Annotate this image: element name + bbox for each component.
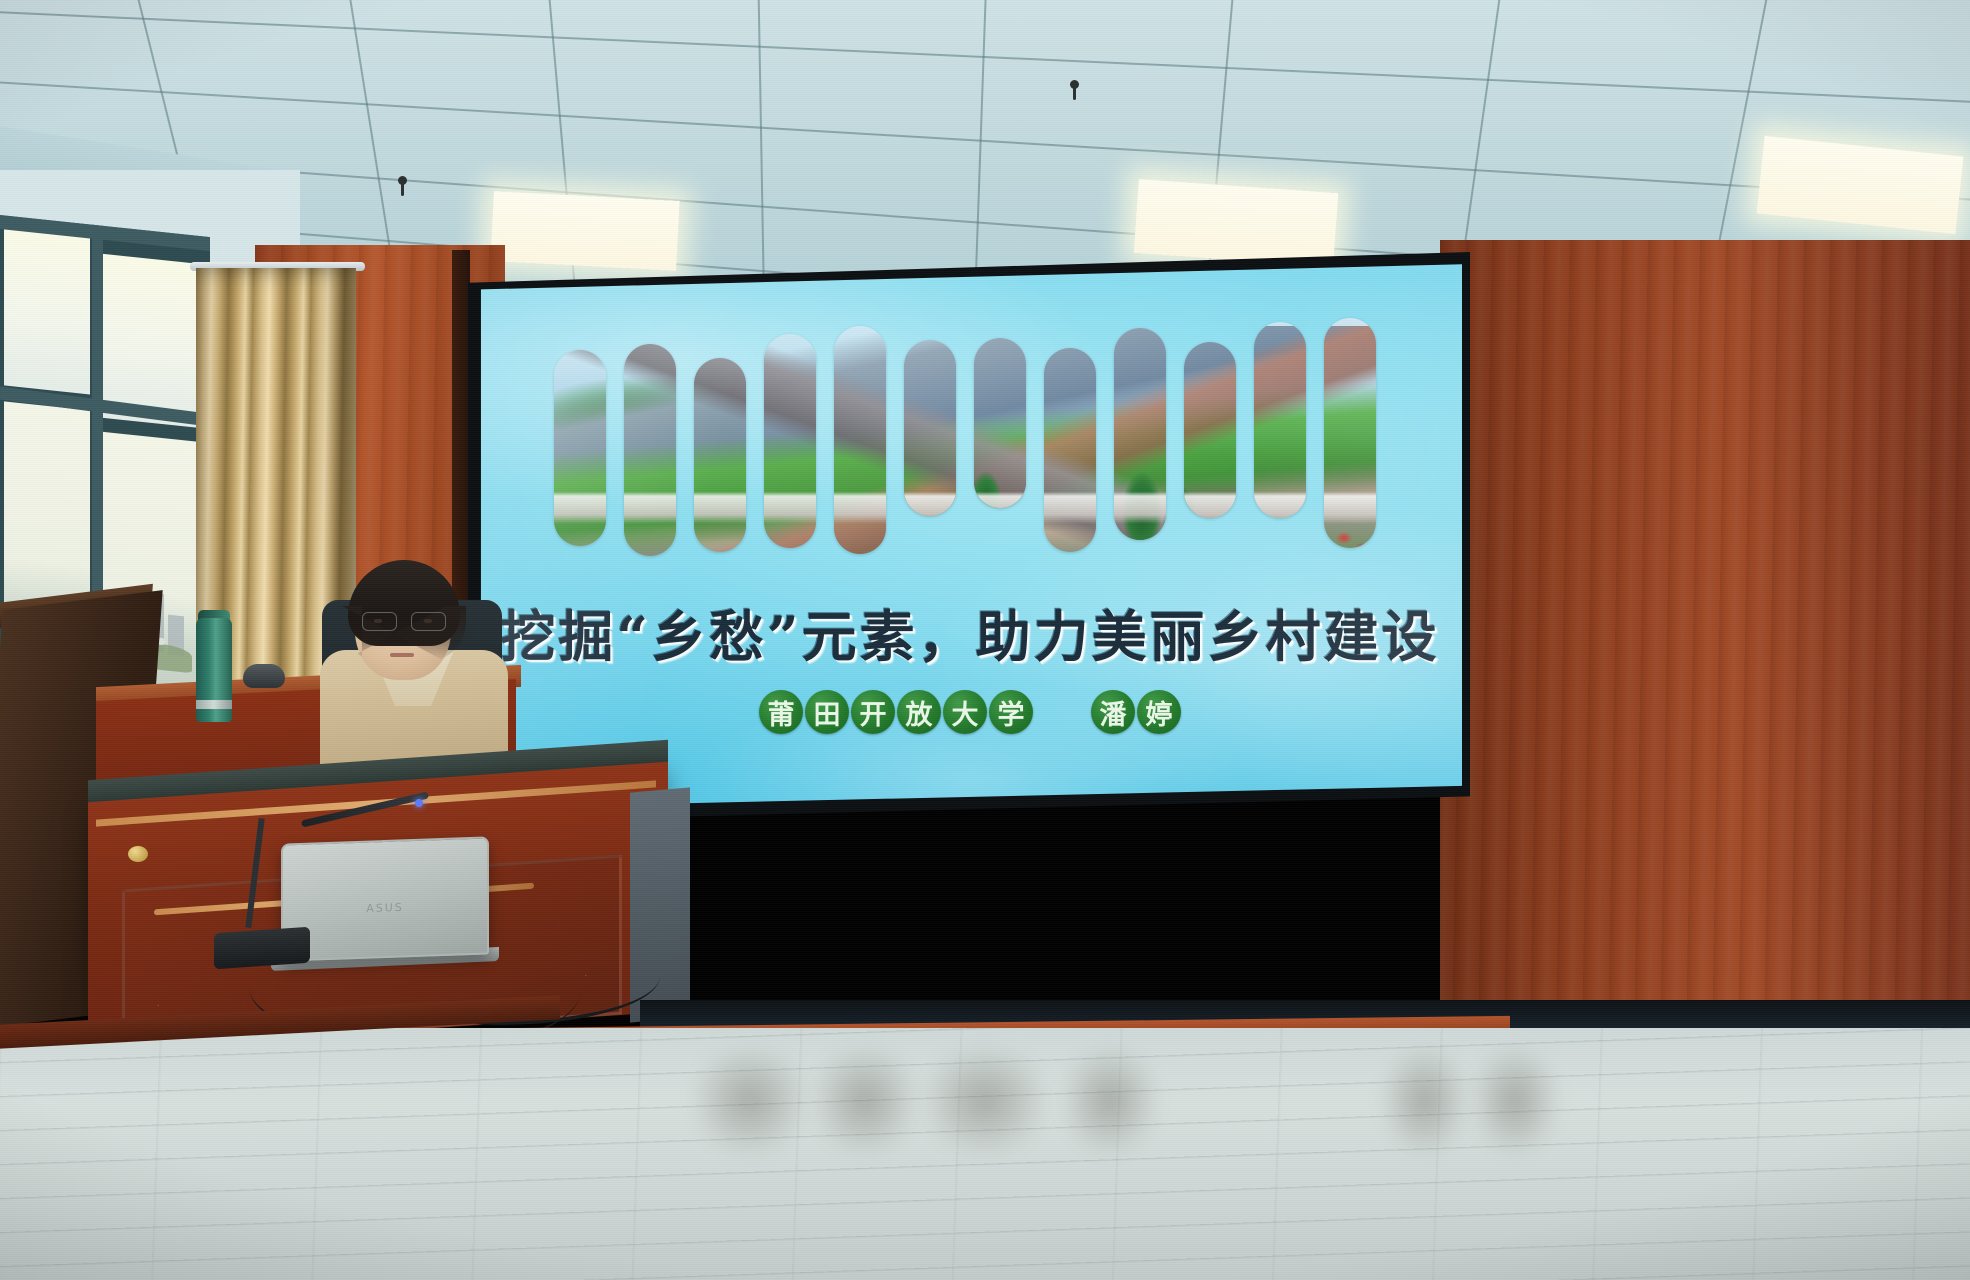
room-photo-scene: 挖掘“乡愁”元素，助力美丽乡村建设 莆 田 开 放 大 学 潘 婷 <box>0 0 1970 1280</box>
presenter-chip-group: 潘 婷 <box>1091 690 1181 734</box>
org-chip: 学 <box>989 690 1033 734</box>
collage-strip <box>694 358 746 552</box>
org-chip: 开 <box>851 690 895 734</box>
sprinkler-head-icon <box>398 176 407 185</box>
organization-chip-group: 莆 田 开 放 大 学 <box>759 690 1033 734</box>
collage-strip <box>904 340 956 516</box>
projection-screen[interactable]: 挖掘“乡愁”元素，助力美丽乡村建设 莆 田 开 放 大 学 潘 婷 <box>478 262 1462 810</box>
org-chip: 田 <box>805 690 849 734</box>
window-pane <box>4 225 90 394</box>
wall-wood-panel-right <box>1440 240 1970 1030</box>
floor <box>0 1028 1970 1280</box>
laptop-brand-logo: ASUS <box>366 901 404 915</box>
presenter-mouth <box>390 653 414 657</box>
collage-strip <box>624 344 676 556</box>
collage-strip <box>764 334 816 548</box>
thermos-band <box>196 700 232 709</box>
ceiling-light-panel <box>1134 179 1339 267</box>
collage-strip <box>974 338 1026 508</box>
wood-grain-texture <box>1440 240 1970 1030</box>
slide-title: 挖掘“乡愁”元素，助力美丽乡村建设 <box>500 592 1439 672</box>
desk-knob[interactable] <box>128 846 148 862</box>
presenter-chip: 潘 <box>1091 690 1135 734</box>
slide-image-collage <box>554 326 1394 556</box>
collage-strip <box>834 326 886 554</box>
computer-mouse[interactable] <box>243 664 285 688</box>
org-chip: 大 <box>943 690 987 734</box>
slide-subtitle-row: 莆 田 开 放 大 学 潘 婷 <box>759 690 1181 734</box>
org-chip: 莆 <box>759 690 803 734</box>
presenter-chip: 婷 <box>1137 690 1181 734</box>
collage-strip <box>1044 348 1096 552</box>
ceiling-light-panel <box>490 191 679 271</box>
collage-strip <box>1324 318 1376 548</box>
collage-strip <box>554 350 606 546</box>
collage-strip <box>1184 342 1236 518</box>
collage-strip <box>1114 328 1166 540</box>
sprinkler-head-icon <box>1070 80 1079 89</box>
org-chip: 放 <box>897 690 941 734</box>
microphone-led-icon <box>415 799 423 807</box>
collage-strip <box>1254 322 1306 518</box>
